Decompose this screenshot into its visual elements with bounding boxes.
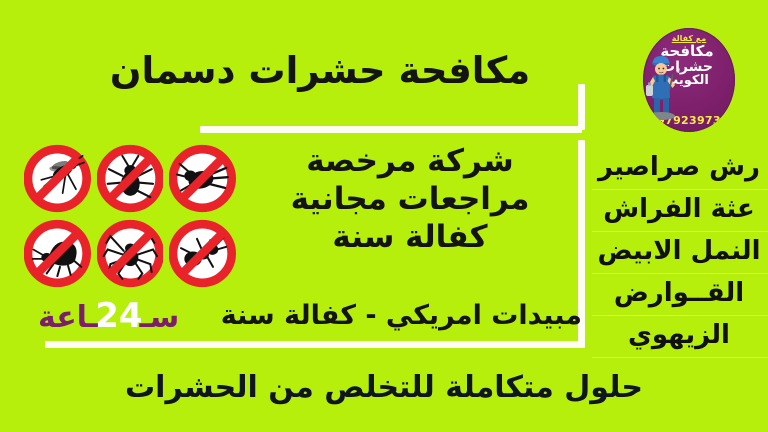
pesticide-guarantee-text: مبيدات امريكي - كفالة سنة	[221, 294, 582, 338]
mid-band: مبيدات امريكي - كفالة سنة سـ24ـاعة	[30, 294, 582, 338]
pest-control-worker-icon	[646, 54, 680, 120]
center-feature-item: شركة مرخصة	[245, 142, 575, 180]
page-title: مكافحة حشرات دسمان	[60, 52, 580, 91]
hour-suffix: ـاعة	[38, 300, 98, 335]
service-divider	[592, 357, 768, 358]
center-feature-item: كفالة سنة	[245, 218, 575, 256]
no-ant-icon	[169, 218, 236, 289]
company-logo-badge: مع كفالة مكافحة حشرات الكويت 97923973	[643, 28, 735, 132]
service-item-rodents: القــوارض	[590, 272, 768, 314]
service-item-termites: النمل الابيض	[590, 230, 768, 272]
pest-icon-grid	[24, 143, 236, 289]
hour-number: 24	[95, 294, 142, 338]
service-item-bed-bugs: عثة الفراش	[590, 188, 768, 230]
no-spider-icon	[97, 218, 164, 289]
bottom-tagline: حلول متكاملة للتخلص من الحشرات	[0, 370, 768, 405]
service-divider	[592, 315, 768, 316]
divider-bottom-horizontal	[45, 341, 585, 348]
center-feature-item: مراجعات مجانية	[245, 180, 575, 218]
hour-prefix: سـ	[140, 300, 180, 335]
no-cockroach-icon	[169, 143, 236, 214]
no-mosquito-icon	[24, 143, 91, 214]
center-feature-list: شركة مرخصة مراجعات مجانية كفالة سنة	[245, 142, 575, 256]
no-cockroach-2-icon	[97, 143, 164, 214]
divider-top-horizontal	[200, 126, 582, 133]
divider-vertical-upper	[578, 84, 585, 130]
service-divider	[592, 189, 768, 190]
service-divider	[592, 231, 768, 232]
service-divider	[592, 273, 768, 274]
poster-canvas: مكافحة حشرات دسمان مع كفالة مكافحة حشرات…	[0, 0, 768, 432]
twentyfour-hour-badge: سـ24ـاعة	[38, 294, 179, 340]
services-list: رش صراصير عثة الفراش النمل الابيض القــو…	[590, 146, 768, 356]
service-item-zaihoui: الزيهوي	[590, 314, 768, 356]
service-item-cockroach-spray: رش صراصير	[590, 146, 768, 188]
no-flea-icon	[24, 218, 91, 289]
